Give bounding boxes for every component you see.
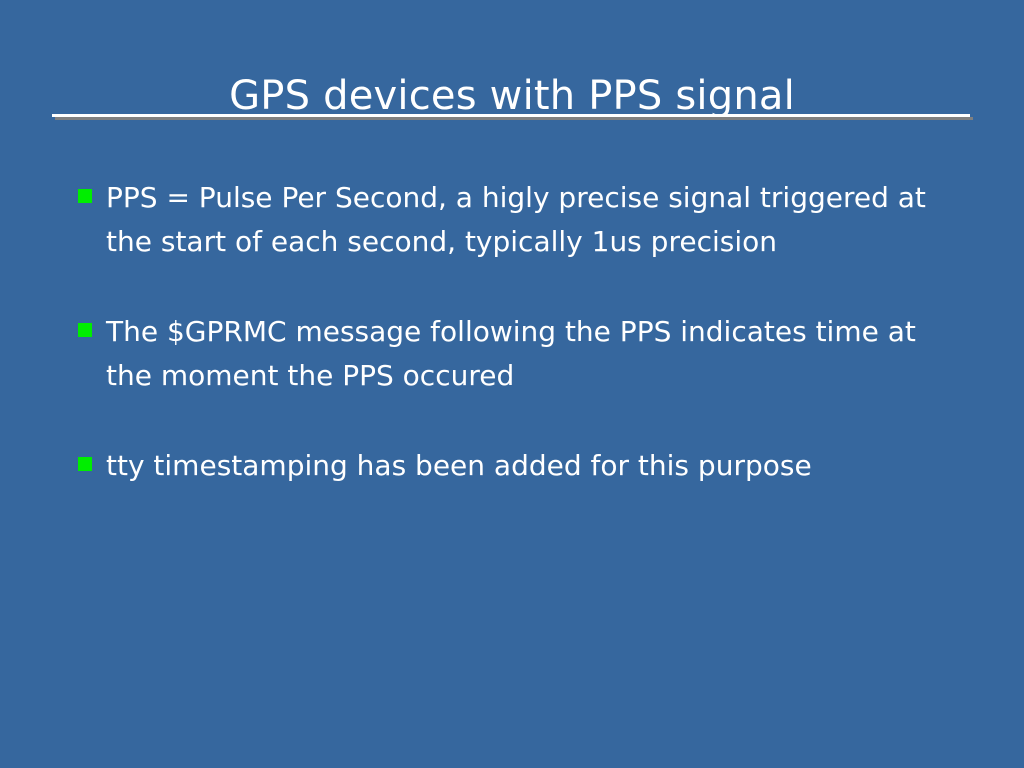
list-item-text: The $GPRMC message following the PPS ind… — [106, 310, 958, 398]
list-item-text: PPS = Pulse Per Second, a higly precise … — [106, 176, 958, 264]
presentation-slide: GPS devices with PPS signal PPS = Pulse … — [0, 0, 1024, 768]
list-item: The $GPRMC message following the PPS ind… — [78, 310, 958, 398]
title-divider-rule — [52, 114, 970, 120]
list-item: PPS = Pulse Per Second, a higly precise … — [78, 176, 958, 264]
green-square-bullet-icon — [78, 457, 92, 471]
green-square-bullet-icon — [78, 189, 92, 203]
bullet-list: PPS = Pulse Per Second, a higly precise … — [78, 176, 958, 488]
slide-title: GPS devices with PPS signal — [0, 72, 1024, 120]
list-item-text: tty timestamping has been added for this… — [106, 444, 958, 488]
list-item: tty timestamping has been added for this… — [78, 444, 958, 488]
divider-shadow — [55, 117, 973, 120]
green-square-bullet-icon — [78, 323, 92, 337]
